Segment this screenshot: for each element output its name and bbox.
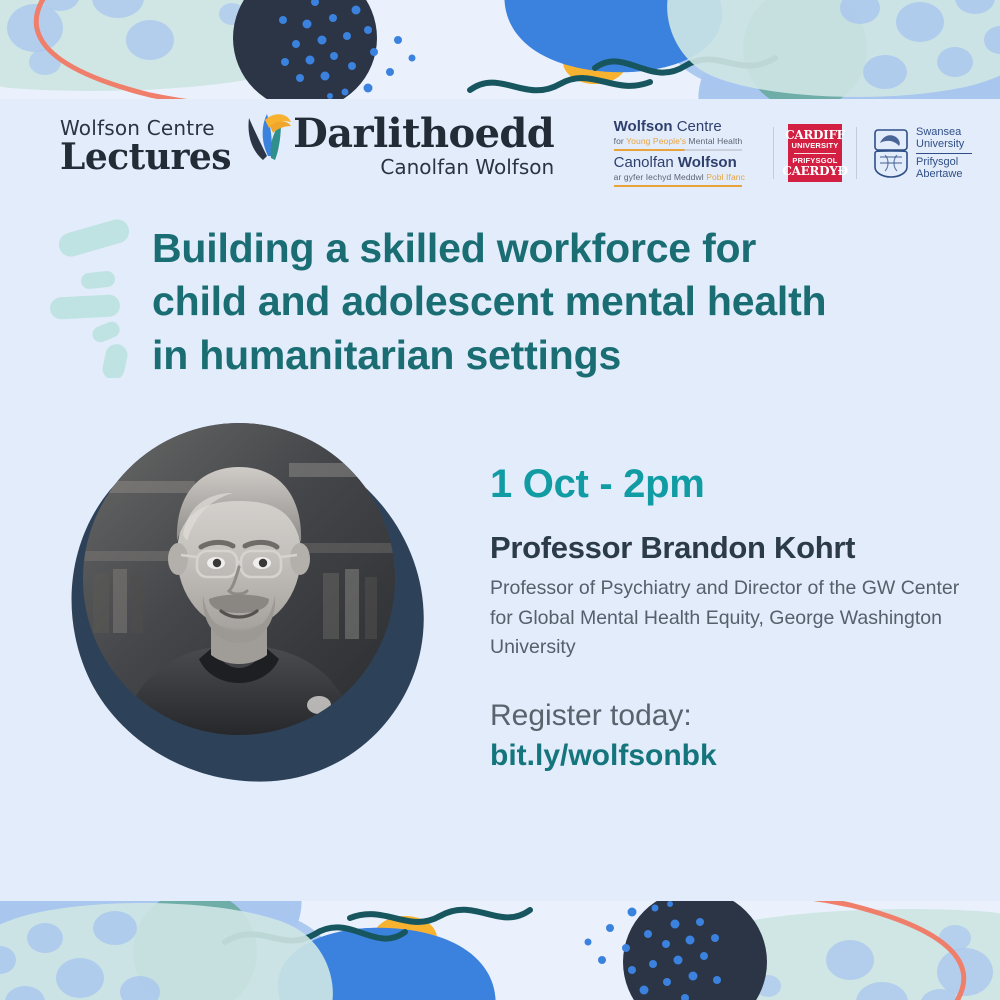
speaker-name: Professor Brandon Kohrt [490,531,960,565]
swansea-crest-icon [871,127,911,179]
wolfson-centre-logo: Wolfson Centre for Young People's Mental… [614,119,759,186]
decorative-banner-bottom [0,895,1000,1000]
lectures-logo-line2: Lectures [60,139,231,175]
speaker-bio: Professor of Psychiatry and Director of … [490,574,960,663]
cardiff-separator [794,153,836,154]
swoosh-icon [237,112,291,174]
swansea-line1: Swansea [916,126,972,138]
partner-divider-1 [773,127,774,179]
swansea-rule [916,153,972,154]
cardiff-line1: CARDIFF [785,129,845,141]
lecture-title: Building a skilled workforce for child a… [152,222,852,382]
welsh-logo-line1: Darlithoedd [293,114,554,154]
register-link[interactable]: bit.ly/wolfsonbk [490,739,960,774]
wolfson-logo-line1: Wolfson Centre [614,119,745,135]
event-poster: Wolfson Centre Lectures Darlithoedd Cano… [0,0,1000,1000]
speaker-portrait-group [58,412,458,802]
swansea-line2: University [916,138,972,150]
wolfson-logo-line2: for Young People's Mental Health [614,137,745,146]
register-label: Register today: [490,699,960,734]
decorative-dashes [48,218,158,378]
partner-logos: Wolfson Centre for Young People's Mental… [614,118,972,188]
swansea-line4: Abertawe [916,168,972,180]
cardiff-line2: UNIVERSITY [791,142,838,150]
wolfson-logo-rule-bottom [614,185,742,187]
logo-row: Wolfson Centre Lectures Darlithoedd Cano… [0,112,1000,192]
wolfson-logo-line4: ar gyfer Iechyd Meddwl Pobl Ifanc [614,173,745,182]
cardiff-line4: CAERDYÐ [782,165,847,177]
wolfson-logo-rule-top [614,149,742,151]
event-date: 1 Oct - 2pm [490,462,960,506]
partner-divider-2 [856,127,857,179]
decorative-banner-top [0,0,1000,105]
cardiff-university-logo: CARDIFF UNIVERSITY PRIFYSGOL CAERDYÐ [788,124,842,182]
lectures-welsh-lockup: Darlithoedd Canolfan Wolfson [293,112,554,177]
wolfson-logo-line3: Canolfan Wolfson [614,155,745,171]
lectures-logo-line1: Wolfson Centre [60,118,215,138]
event-details: 1 Oct - 2pm Professor Brandon Kohrt Prof… [490,462,960,774]
swansea-university-logo: Swansea University Prifysgol Abertawe [871,126,972,180]
lectures-english-lockup: Wolfson Centre Lectures [60,112,231,175]
swansea-line3: Prifysgol [916,156,972,168]
welsh-logo-line2: Canolfan Wolfson [380,157,554,177]
speaker-photo [83,423,395,735]
lectures-logo: Wolfson Centre Lectures Darlithoedd Cano… [60,112,554,177]
cardiff-line3: PRIFYSGOL [792,157,837,165]
swansea-logo-text: Swansea University Prifysgol Abertawe [916,126,972,180]
